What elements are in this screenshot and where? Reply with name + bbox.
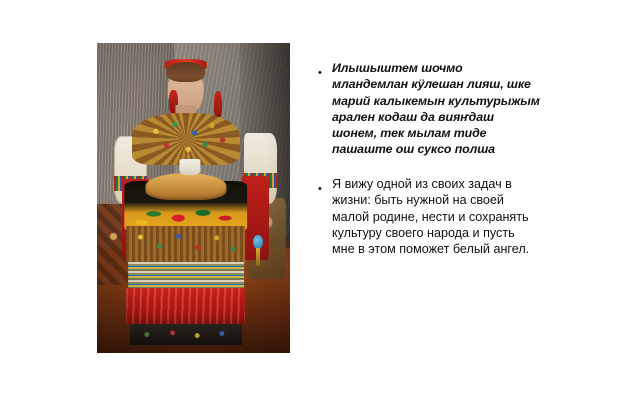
photo-red-skirt (126, 288, 246, 325)
photo-beaded-apron (126, 226, 246, 263)
photo-skirt-stripes (128, 262, 244, 290)
bullet-marker-icon: • (318, 60, 332, 79)
slide-canvas: • Илышыштем шочмо мландемлан кӱлешан лия… (0, 0, 640, 400)
woman-in-mari-folk-costume-photo (97, 43, 290, 353)
photo-pendant-tassel (256, 248, 260, 267)
photo-bread-loaf (145, 173, 226, 199)
bullet-text-russian: Я вижу одной из своих задач в жизни: быт… (332, 176, 540, 258)
bullet-item-russian: • Я вижу одной из своих задач в жизни: б… (318, 176, 540, 258)
bullet-text-column: • Илышыштем шочмо мландемлан кӱлешан лия… (318, 60, 540, 258)
photo-beaded-collar (132, 113, 240, 166)
bullet-item-mari: • Илышыштем шочмо мландемлан кӱлешан лия… (318, 60, 540, 158)
photo-beaded-hem (130, 324, 242, 346)
photo-salt-cup (179, 159, 200, 175)
photo-frame (97, 43, 290, 353)
photo-figure (97, 43, 290, 353)
photo-hair-fringe (166, 62, 206, 82)
bullet-marker-icon: • (318, 176, 332, 195)
bullet-text-mari: Илышыштем шочмо мландемлан кӱлешан лияш,… (332, 60, 540, 158)
